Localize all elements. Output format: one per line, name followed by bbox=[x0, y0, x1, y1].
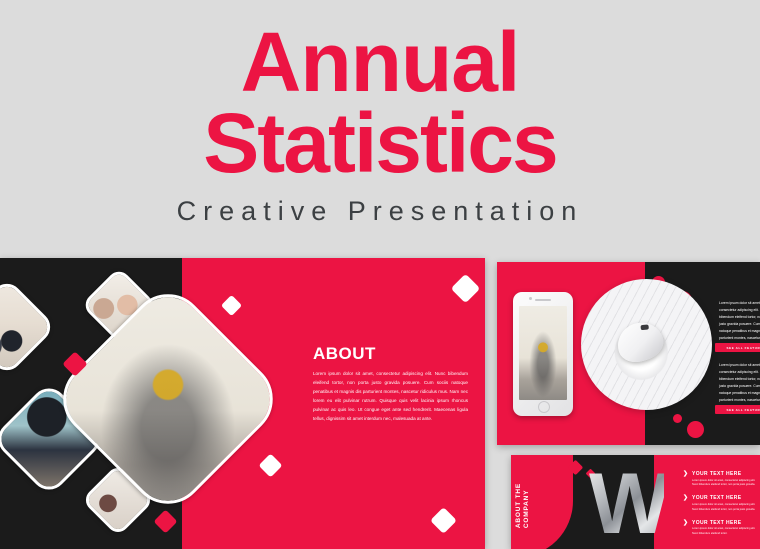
page-subtitle: Creative Presentation bbox=[0, 196, 760, 227]
title-line-2: Statistics bbox=[0, 103, 760, 184]
about-heading: ABOUT bbox=[313, 344, 468, 364]
slide3-vertical-label: ABOUT THE COMPANY bbox=[515, 483, 531, 528]
slide2-cta-button-2[interactable]: SEE ALL FEATURES bbox=[715, 405, 760, 414]
phone-screen-image bbox=[519, 306, 567, 400]
mouse-keyboard-photo bbox=[581, 279, 712, 410]
about-text-block: ABOUT Lorem ipsum dolor sit amet, consec… bbox=[313, 344, 468, 424]
accent-dot-3 bbox=[673, 414, 682, 423]
computer-mouse bbox=[612, 317, 667, 367]
slide3-big-letter: W bbox=[589, 461, 664, 547]
slide-thumbnail-devices[interactable]: Lorem ipsum dolor sit amet, consectetur … bbox=[497, 262, 760, 445]
phone-mockup bbox=[513, 292, 573, 416]
phone-camera-icon bbox=[529, 297, 532, 300]
about-body-text: Lorem ipsum dolor sit amet, consectetur … bbox=[313, 370, 468, 424]
list-item[interactable]: ❯ YOUR TEXT HERE Lorem ipsum dolor sit a… bbox=[683, 471, 757, 488]
slide-thumbnail-about[interactable]: ABOUT Lorem ipsum dolor sit amet, consec… bbox=[0, 258, 485, 549]
chevron-right-icon: ❯ bbox=[683, 520, 688, 526]
slide2-text-block-1: Lorem ipsum dolor sit amet, consectetur … bbox=[719, 300, 760, 349]
list-item-text: Lorem ipsum dolor sit amet, consectetur … bbox=[692, 479, 757, 489]
list-item-text: Lorem ipsum dolor sit amet, consectetur … bbox=[692, 503, 757, 513]
list-item[interactable]: ❯ YOUR TEXT HERE Lorem ipsum dolor sit a… bbox=[683, 495, 757, 512]
slide2-text-block-2: Lorem ipsum dolor sit amet, consectetur … bbox=[719, 362, 760, 411]
page-title: Annual Statistics bbox=[0, 22, 760, 183]
chevron-right-icon: ❯ bbox=[683, 495, 688, 501]
list-item[interactable]: ❯ YOUR TEXT HERE Lorem ipsum dolor sit a… bbox=[683, 520, 757, 537]
slide-thumbnail-company[interactable]: ABOUT THE COMPANY W ❯ YOUR TEXT HERE Lor… bbox=[511, 455, 760, 549]
slide3-feature-list: ❯ YOUR TEXT HERE Lorem ipsum dolor sit a… bbox=[683, 471, 757, 544]
list-item-title: YOUR TEXT HERE bbox=[692, 471, 757, 477]
slide2-cta-button-1[interactable]: SEE ALL FEATURES bbox=[715, 343, 760, 352]
hero-banner: Annual Statistics Creative Presentation bbox=[0, 0, 760, 250]
title-line-1: Annual bbox=[241, 15, 520, 109]
chevron-right-icon: ❯ bbox=[683, 471, 688, 477]
list-item-text: Lorem ipsum dolor sit amet, consectetur … bbox=[692, 527, 757, 537]
accent-dot-4 bbox=[687, 421, 704, 438]
presentation-preview: Annual Statistics Creative Presentation bbox=[0, 0, 760, 549]
phone-speaker-icon bbox=[535, 299, 551, 301]
phone-home-button bbox=[538, 401, 550, 413]
list-item-title: YOUR TEXT HERE bbox=[692, 495, 757, 501]
list-item-title: YOUR TEXT HERE bbox=[692, 520, 757, 526]
